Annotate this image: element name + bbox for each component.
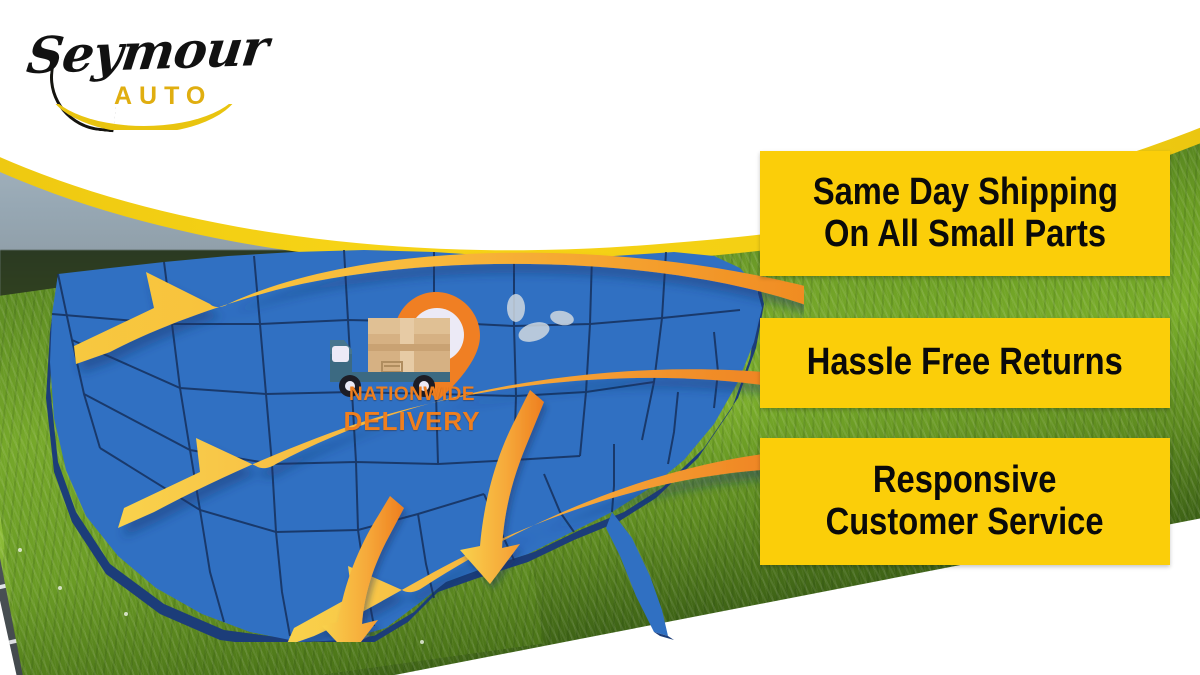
panel-line: On All Small Parts (824, 214, 1106, 255)
marketing-banner: Seymour AUTO (0, 0, 1200, 675)
panel-line: Same Day Shipping (812, 172, 1117, 213)
feature-panel-same-day-shipping[interactable]: Same Day Shipping On All Small Parts (760, 151, 1170, 276)
brand-logo[interactable]: Seymour AUTO (28, 20, 258, 125)
panel-line: Hassle Free Returns (807, 342, 1123, 383)
logo-swoosh-icon (46, 104, 242, 130)
nationwide-delivery-badge: NATIONWIDE DELIVERY (322, 288, 502, 448)
panel-line: Responsive (873, 460, 1056, 501)
logo-brand-name: Seymour (24, 18, 271, 85)
feature-panel-hassle-free-returns[interactable]: Hassle Free Returns (760, 318, 1170, 408)
delivery-label: DELIVERY (322, 406, 502, 437)
feature-panel-responsive-customer-service[interactable]: Responsive Customer Service (760, 438, 1170, 565)
panel-line: Customer Service (826, 502, 1104, 543)
nationwide-label: NATIONWIDE (322, 384, 502, 406)
